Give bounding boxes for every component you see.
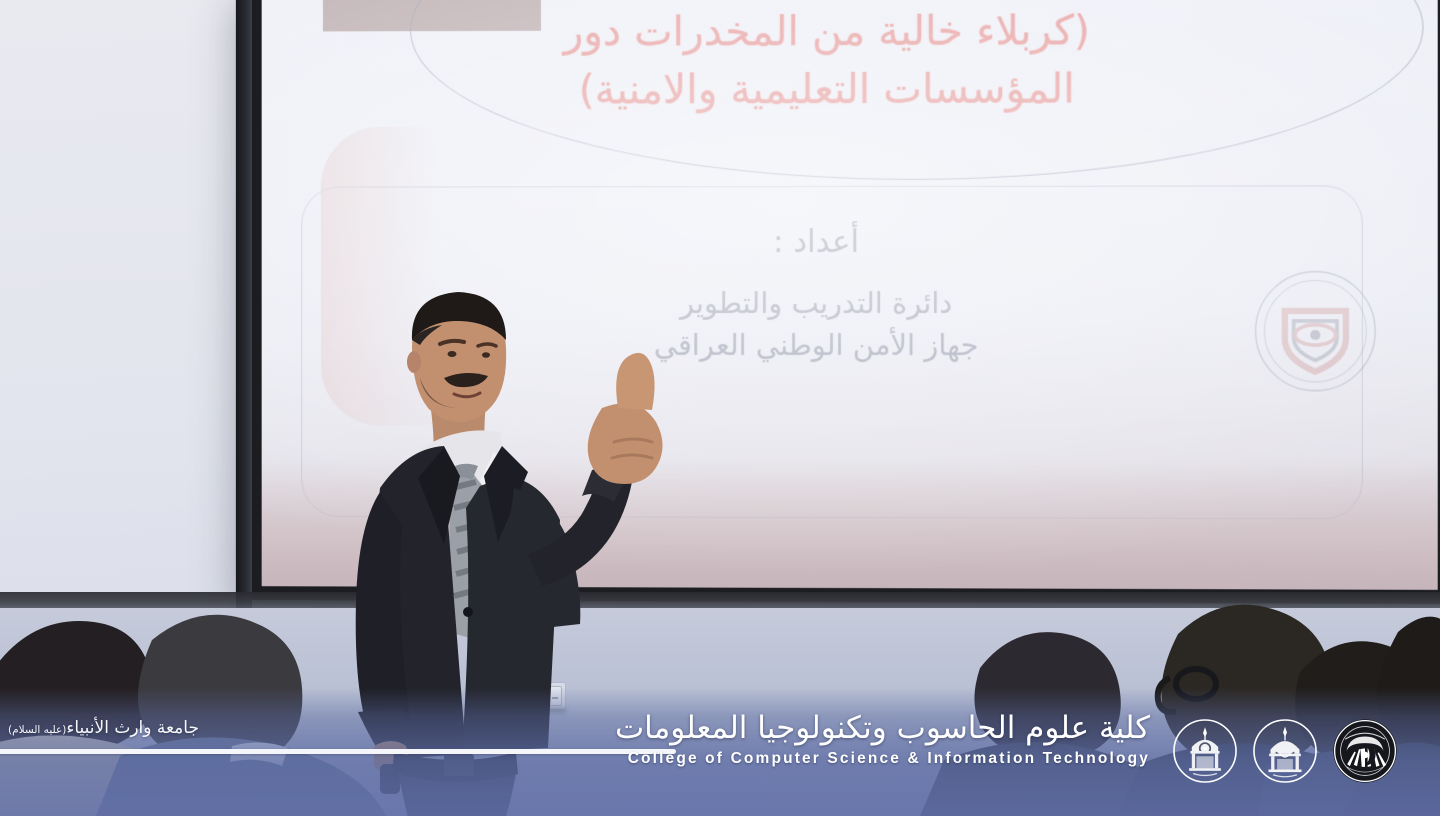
university-watermark: جامعة وارث الأنبياء(عليه السلام): [8, 718, 199, 738]
slide-title-line-2: المؤسسات التعليمية والامنية): [262, 59, 1398, 120]
ministry-of-higher-education-logo: [1332, 718, 1398, 784]
watermark-suffix: (عليه السلام): [8, 724, 66, 736]
photograph: (كربلاء خالية من المخدرات دور المؤسسات ا…: [0, 0, 1440, 816]
college-name-arabic: كلية علوم الحاسوب وتكنولوجيا المعلومات: [615, 710, 1150, 746]
banner-divider-rule: [0, 749, 676, 754]
slide-title-line-1: (كربلاء خالية من المخدرات دور: [262, 0, 1398, 61]
screen-left-frame-edge: [236, 0, 252, 620]
slide-prepared-by-label: أعداد :: [262, 224, 1377, 261]
holy-shrine-logo: [1252, 718, 1318, 784]
warith-al-anbiyaa-university-logo: [1172, 718, 1238, 784]
iraqi-national-security-service-emblem: [1252, 268, 1379, 395]
slide-title: (كربلاء خالية من المخدرات دور المؤسسات ا…: [262, 0, 1398, 119]
logo-row: [1172, 718, 1398, 784]
college-name-block: كلية علوم الحاسوب وتكنولوجيا المعلومات C…: [615, 710, 1150, 768]
watermark-arabic: جامعة وارث الأنبياء: [66, 718, 199, 738]
college-name-english: College of Computer Science & Informatio…: [615, 750, 1150, 768]
